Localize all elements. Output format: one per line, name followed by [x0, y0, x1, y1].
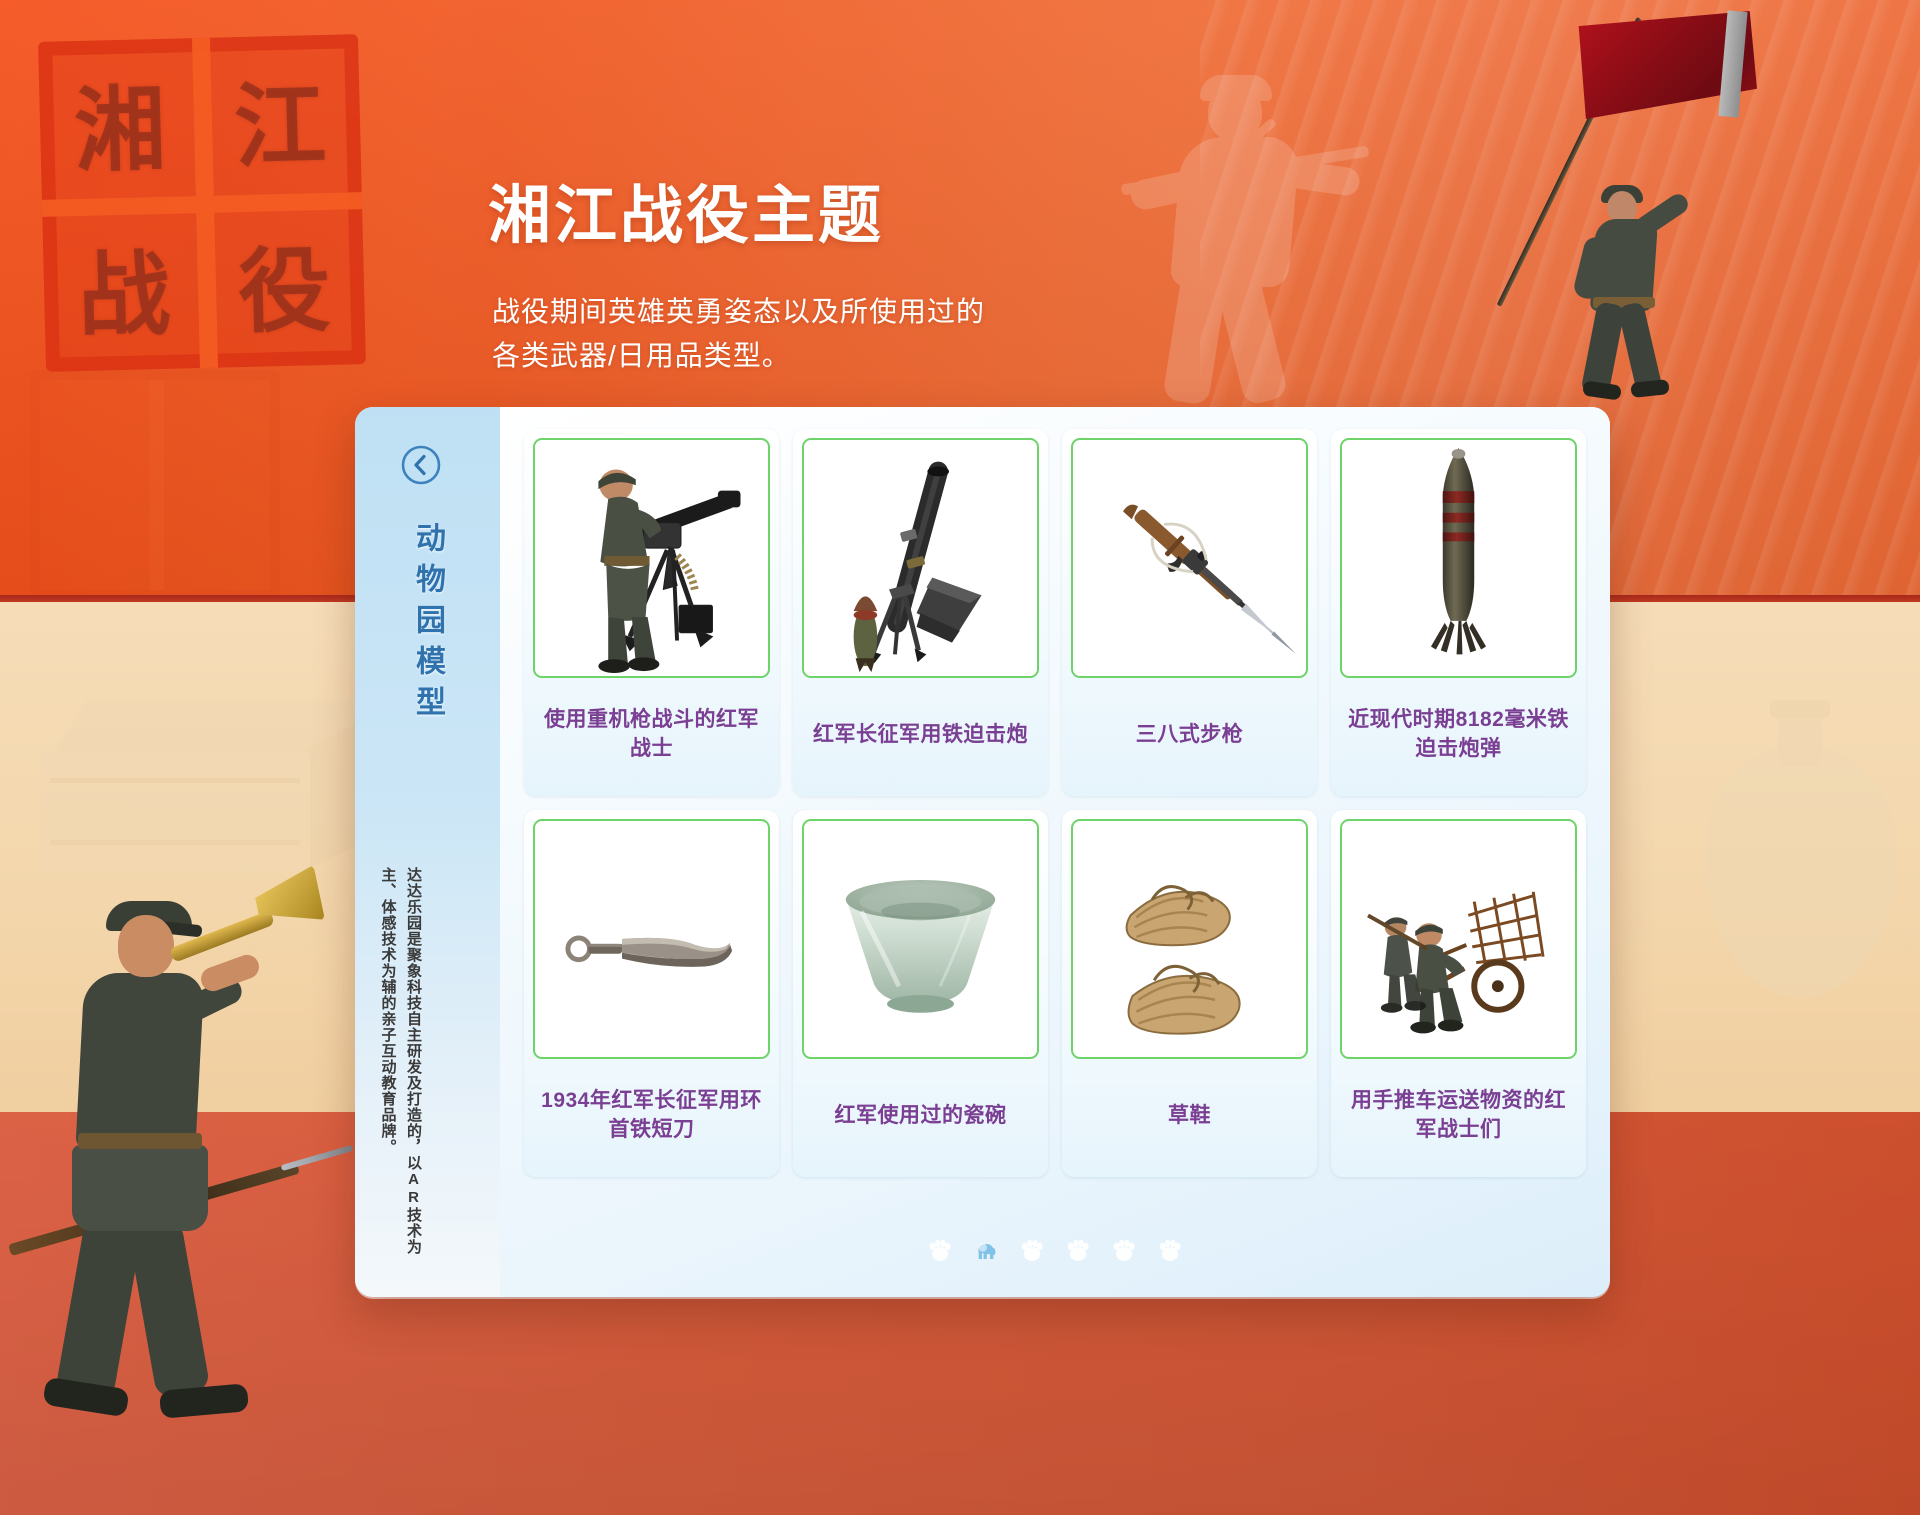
model-card-image [533, 819, 770, 1059]
seal-char: 役 [202, 199, 366, 368]
model-card[interactable]: 使用重机枪战斗的红军战士 [524, 429, 779, 796]
watermark-soldier-icon [1090, 75, 1380, 405]
paw-print-icon [1111, 1250, 1137, 1267]
page-subtitle-line2: 各类武器/日用品类型。 [492, 334, 985, 378]
page-root: 湘 江 战 役 湘江战役主题 战役期间英雄英 [0, 0, 1920, 1515]
page-subtitle: 战役期间英雄英勇姿态以及所使用过的 各类武器/日用品类型。 [492, 290, 985, 378]
seal-char: 战 [42, 203, 206, 372]
model-card[interactable]: 草鞋 [1062, 810, 1317, 1177]
paw-print-icon [1019, 1250, 1045, 1267]
model-card-image [1071, 819, 1308, 1059]
paw-print-icon [927, 1250, 953, 1267]
seal-stamp-logo: 湘 江 战 役 [38, 34, 366, 372]
model-card: 近现代时期8182毫米铁迫击炮弹 [1331, 429, 1586, 796]
model-card-label: 三八式步枪 [1071, 678, 1308, 796]
model-card-image [533, 438, 770, 678]
model-card[interactable]: 1934年红军长征军用环首铁短刀 [524, 810, 779, 1177]
model-card-image [802, 438, 1039, 678]
model-card-label: 红军长征军用铁迫击炮 [802, 678, 1039, 796]
type-38-rifle-icon [1073, 440, 1306, 676]
model-card[interactable]: 用手推车运送物资的红军战士们 [1331, 810, 1586, 1177]
sidebar-description: 达达乐园是聚象科技自主研发及打造的，以AR技术为主、体感技术为辅的亲子互动教育品… [375, 867, 426, 1262]
porcelain-bowl-icon [804, 821, 1037, 1057]
paw-print-icon [1157, 1250, 1183, 1267]
model-card-label: 1934年红军长征军用环首铁短刀 [533, 1059, 770, 1177]
pagination-dot-active[interactable] [973, 1237, 999, 1263]
pagination-dot[interactable] [927, 1237, 953, 1263]
chevron-left-circle-icon [399, 443, 443, 487]
model-browser-panel: 动物园模型 达达乐园是聚象科技自主研发及打造的，以AR技术为主、体感技术为辅的亲… [355, 407, 1610, 1297]
model-card-image [1340, 438, 1577, 678]
model-card-image [802, 819, 1039, 1059]
model-card-image [1340, 819, 1577, 1059]
bugler-soldier-illustration [10, 855, 330, 1495]
model-card-label: 红军使用过的瓷碗 [802, 1059, 1039, 1177]
pagination-dot[interactable] [1019, 1237, 1045, 1263]
model-card-grid: 使用重机枪战斗的红军战士 [524, 429, 1586, 1177]
ring-pommel-short-sword-icon [535, 821, 768, 1057]
model-card-label: 用手推车运送物资的红军战士们 [1340, 1059, 1577, 1177]
page-title: 湘江战役主题 [488, 165, 884, 256]
straw-sandals-icon [1073, 821, 1306, 1057]
model-card[interactable]: 三八式步枪 [1062, 429, 1317, 796]
model-card-image [1071, 438, 1308, 678]
watermark-seal-icon [30, 370, 280, 600]
seal-char: 江 [198, 34, 362, 203]
model-card-label: 使用重机枪战斗的红军战士 [533, 678, 770, 796]
back-button[interactable] [399, 443, 443, 487]
soldiers-handcart-icon [1342, 821, 1575, 1057]
page-subtitle-line1: 战役期间英雄英勇姿态以及所使用过的 [492, 290, 985, 334]
panel-main: 使用重机枪战斗的红军战士 [500, 407, 1610, 1297]
pagination-dot[interactable] [1065, 1237, 1091, 1263]
flag-bearer-illustration [1575, 5, 1920, 395]
model-card[interactable]: 红军长征军用铁迫击炮 [793, 429, 1048, 796]
iron-mortar-icon [804, 440, 1037, 676]
model-card-label: 草鞋 [1071, 1059, 1308, 1177]
seal-char: 湘 [38, 38, 202, 207]
pagination-dot[interactable] [1157, 1237, 1183, 1263]
sidebar-title: 动物园模型 [405, 522, 449, 727]
model-card-label: 近现代时期8182毫米铁迫击炮弹 [1340, 678, 1577, 796]
elephant-icon [973, 1250, 999, 1267]
paw-print-icon [1065, 1250, 1091, 1267]
panel-sidebar: 动物园模型 达达乐园是聚象科技自主研发及打造的，以AR技术为主、体感技术为辅的亲… [355, 407, 500, 1297]
watermark-canteen-icon [1700, 700, 1900, 1010]
pagination [500, 1237, 1610, 1263]
soldier-heavy-machine-gun-icon [535, 440, 768, 676]
pagination-dot[interactable] [1111, 1237, 1137, 1263]
mortar-shell-icon [1342, 440, 1575, 676]
model-card[interactable]: 红军使用过的瓷碗 [793, 810, 1048, 1177]
